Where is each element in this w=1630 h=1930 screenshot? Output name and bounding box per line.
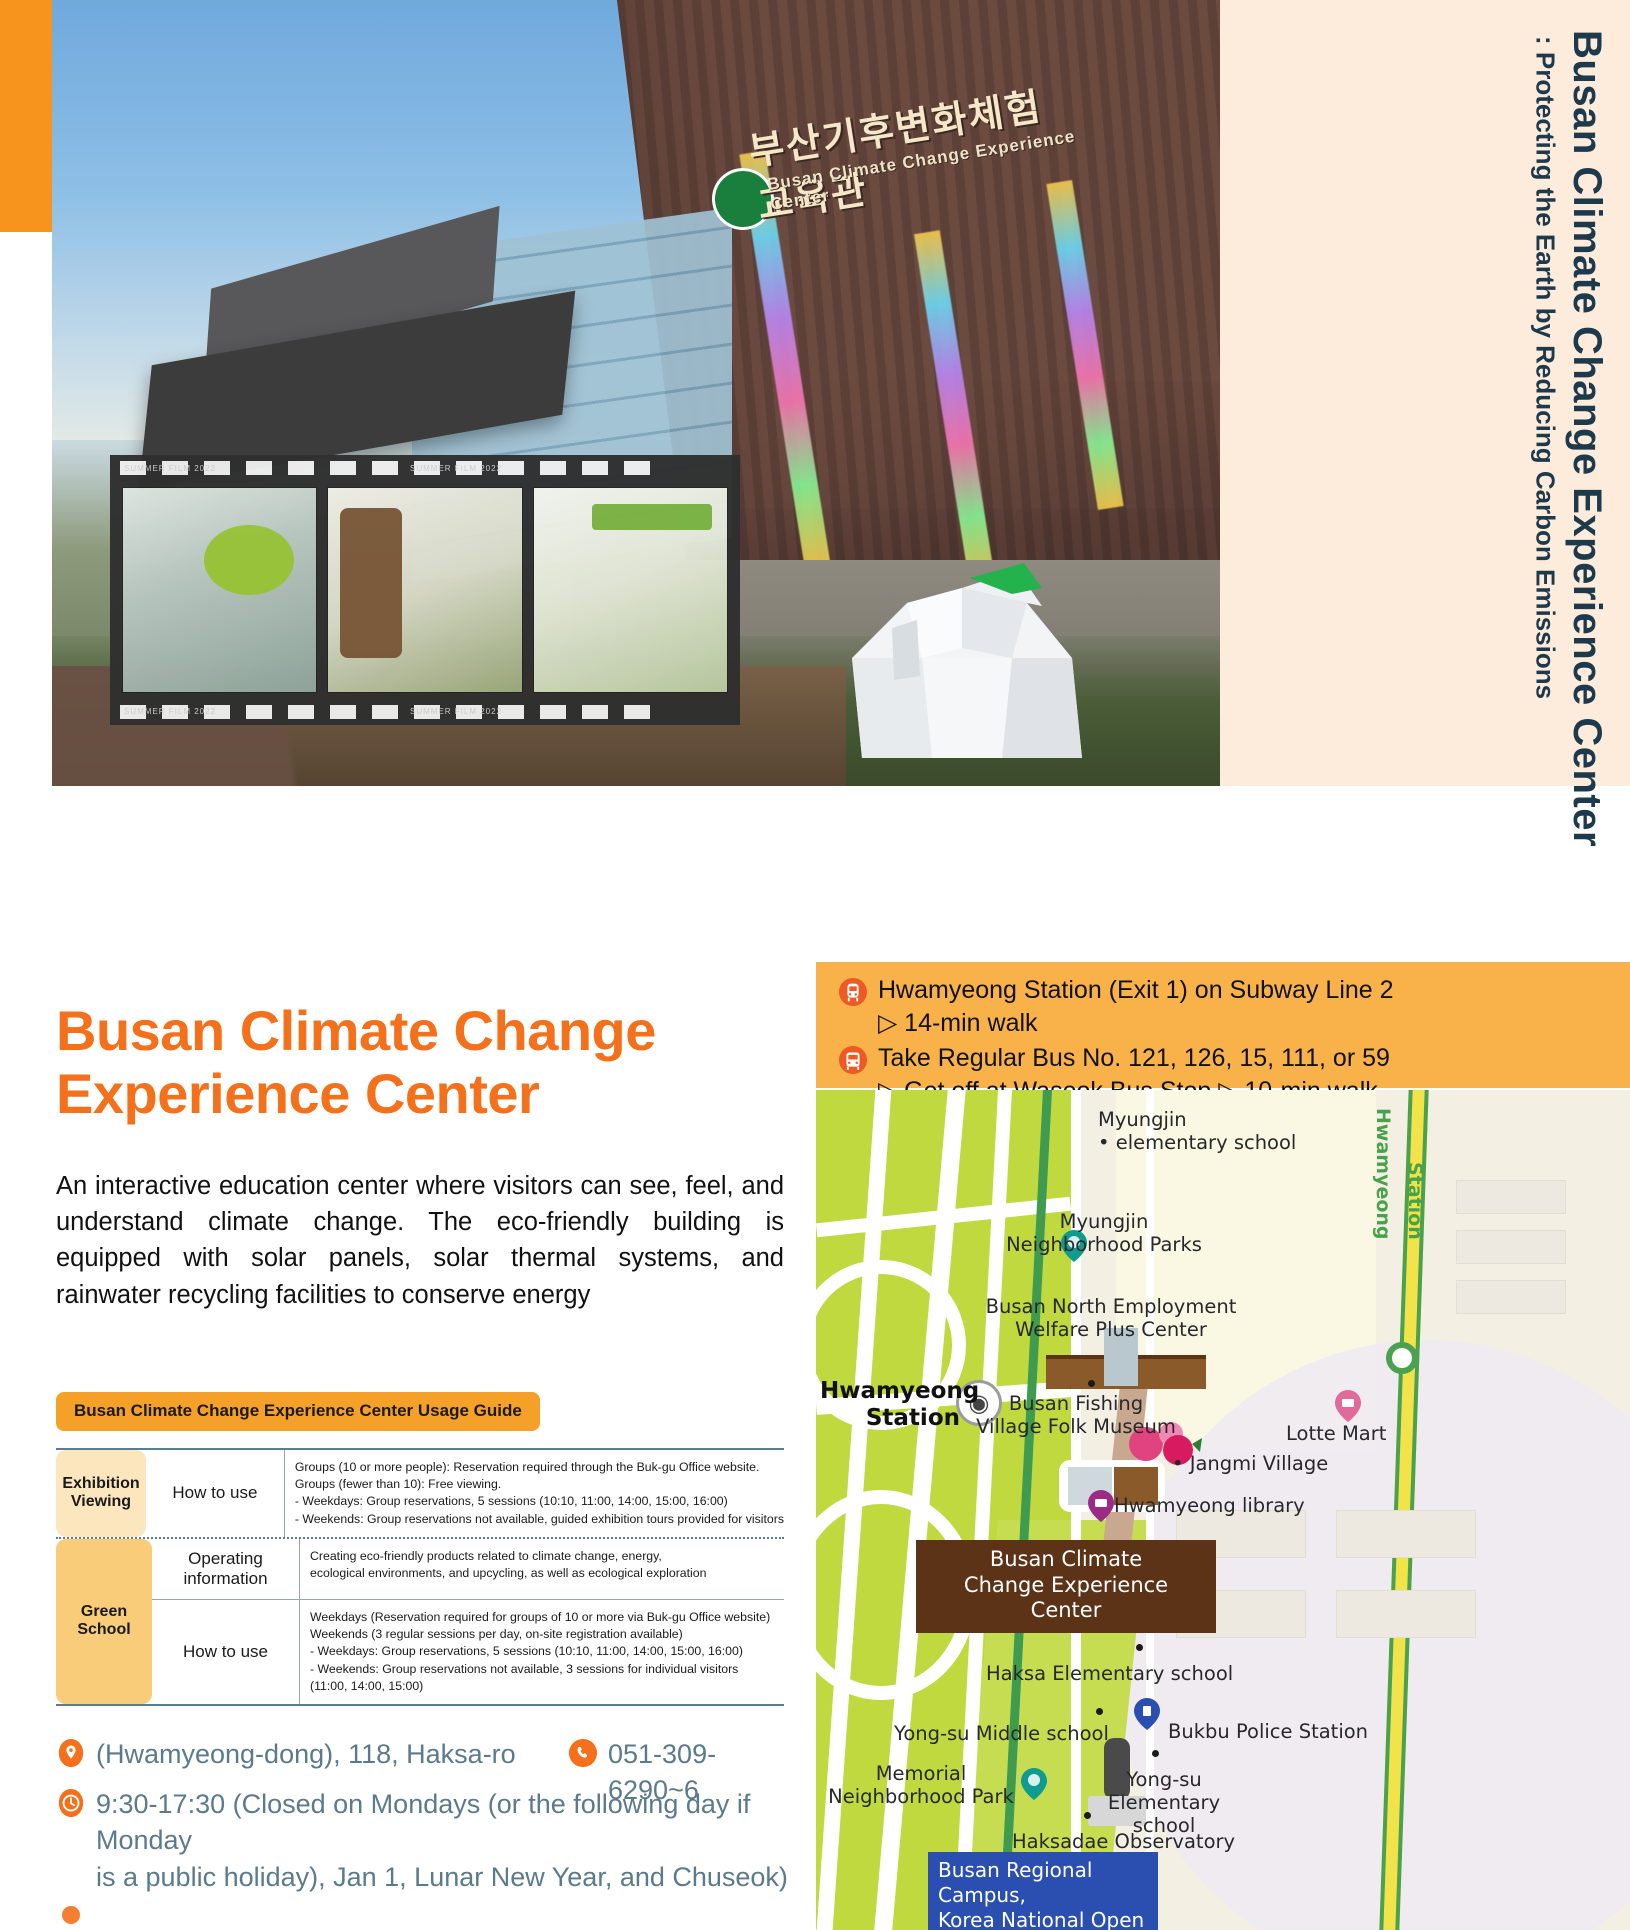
- map-label-line: Lotte Mart: [1286, 1422, 1386, 1445]
- table-cell-content: Creating eco-friendly products related t…: [300, 1539, 784, 1599]
- contact-hours-line2: is a public holiday), Jan 1, Lunar New Y…: [96, 1859, 796, 1895]
- map-label-hwamyeong-library: Hwamyeong library: [1114, 1494, 1305, 1517]
- table-subrow: Operating information Creating eco-frien…: [152, 1539, 784, 1600]
- film-label-bl: SUMMER FILM 2022: [124, 707, 216, 716]
- location-pin-icon: [56, 1738, 86, 1768]
- map-block: [1456, 1180, 1566, 1214]
- table-subrow: How to use Weekdays (Reservation require…: [152, 1600, 784, 1704]
- map-marker-center[interactable]: Busan Climate Change Experience Center: [916, 1540, 1216, 1633]
- vertical-subtitle: : Protecting the Earth by Reducing Carbo…: [1531, 30, 1560, 699]
- table-row: Exhibition Viewing How to use Groups (10…: [56, 1450, 784, 1539]
- table-cell-category: Exhibition Viewing: [56, 1450, 146, 1537]
- map-label-line: Busan North Employment: [966, 1295, 1256, 1318]
- police-station-pin-icon: [1134, 1698, 1160, 1730]
- film-photo-tree-exhibit: [327, 487, 522, 693]
- map-dot-haksadae: [1084, 1812, 1091, 1819]
- poster-page: 부산기후변화체험교육관 Busan Climate Change Experie…: [0, 0, 1630, 1930]
- library-pin-icon: [1088, 1490, 1114, 1522]
- film-photo-row: 그린마켓: [122, 487, 728, 693]
- phone-icon: [568, 1738, 598, 1768]
- table-cell-category: Green School: [56, 1539, 152, 1704]
- map-marker-center-line2: Change Experience Center: [930, 1573, 1202, 1624]
- green-market-label: 그린마켓: [623, 504, 663, 520]
- usage-guide-table: Exhibition Viewing How to use Groups (10…: [56, 1448, 784, 1706]
- table-cell-subject: How to use: [152, 1600, 300, 1704]
- left-accent-tab: [0, 0, 52, 232]
- map-label-jangmi-village: • Jangmi Village: [1172, 1452, 1328, 1475]
- clock-icon: [56, 1788, 86, 1818]
- table-line: Creating eco-friendly products related t…: [310, 1548, 784, 1565]
- film-strip-collage: SUMMER FILM 2022 SUMMER FILM 2022 SUMMER…: [110, 455, 740, 725]
- map-label-lotte-mart: Lotte Mart: [1286, 1422, 1386, 1445]
- subway-icon: [838, 977, 868, 1007]
- table-line: Groups (10 or more people): Reservation …: [295, 1459, 784, 1476]
- table-line: - Weekends: Group reservations not avail…: [295, 1511, 784, 1528]
- table-cell-subject: Operating information: [152, 1539, 300, 1599]
- map-label-yongsu-middle: Yong-su Middle school: [894, 1722, 1109, 1745]
- contact-address: (Hwamyeong-dong), 118, Haksa-ro: [96, 1736, 516, 1772]
- table-row: Green School Operating information Creat…: [56, 1539, 784, 1704]
- map-label-line: • elementary school: [1098, 1131, 1368, 1154]
- film-photo-green-market: 그린마켓: [533, 487, 728, 693]
- map-label-line: Busan Fishing: [926, 1392, 1226, 1415]
- map-label-line: Bukbu Police Station: [1168, 1720, 1368, 1743]
- vertical-title-band: Busan Climate Change Experience Center :…: [1220, 0, 1630, 786]
- highway-station-node-icon: [1386, 1342, 1418, 1374]
- film-label-left: SUMMER FILM 2022: [124, 464, 216, 473]
- map-block: [1456, 1230, 1566, 1264]
- map-label-line: Haksadae Observatory: [1012, 1830, 1235, 1853]
- lotte-mart-pin-icon: [1335, 1390, 1361, 1422]
- footer-bullet-icon: [62, 1906, 80, 1924]
- highway-label-hwamyeong: Hwamyeong: [1372, 1108, 1394, 1240]
- table-category-label: Green School: [56, 1603, 152, 1640]
- map-block: [1336, 1590, 1476, 1638]
- table-line: ecological environments, and upcycling, …: [310, 1565, 784, 1582]
- map-marker-knou[interactable]: Busan Regional Campus, Korea National Op…: [928, 1852, 1158, 1930]
- contact-phone: 051-309-6290~6: [608, 1736, 796, 1808]
- map-label-line: Neighborhood Parks: [974, 1233, 1234, 1256]
- map-label-line: Myungjin: [1098, 1108, 1368, 1131]
- map-dot-welfare: [1088, 1380, 1095, 1387]
- page-title: Busan Climate Change Experience Center: [56, 1000, 796, 1125]
- map-marker-center-line1: Busan Climate: [930, 1547, 1202, 1573]
- map-marker-knou-line1: Busan Regional Campus,: [938, 1858, 1148, 1908]
- usage-guide-badge: Busan Climate Change Experience Center U…: [56, 1392, 540, 1431]
- map-label-line: Memorial: [816, 1762, 1026, 1785]
- table-line: - Weekends: Group reservations not avail…: [310, 1661, 784, 1678]
- page-description: An interactive education center where vi…: [56, 1168, 784, 1313]
- transport-subway-sub: ▷ 14-min walk: [838, 1007, 1630, 1040]
- map-label-haksadae-observatory: Haksadae Observatory: [1012, 1830, 1235, 1853]
- map-label-welfare-center: Busan North Employment Welfare Plus Cent…: [966, 1295, 1256, 1341]
- map-label-line: Welfare Plus Center: [966, 1318, 1256, 1341]
- map-dot-yongsu-mid: [1096, 1708, 1103, 1715]
- location-map[interactable]: ◉: [816, 1090, 1630, 1930]
- transport-bus-text: Take Regular Bus No. 121, 126, 15, 111, …: [878, 1042, 1390, 1074]
- contact-block: (Hwamyeong-dong), 118, Haksa-ro 051-309-…: [56, 1736, 796, 1905]
- table-line: - Weekdays: Group reservations, 5 sessio…: [310, 1643, 784, 1660]
- table-cell-subject: How to use: [146, 1450, 285, 1537]
- polar-bear-sculpture-icon: [812, 508, 1122, 758]
- bus-icon: [838, 1045, 868, 1075]
- film-label-mid: SUMMER FILM 2022: [410, 464, 502, 473]
- table-cell-content: Weekdays (Reservation required for group…: [300, 1600, 784, 1704]
- map-label-line: Hwamyeong library: [1114, 1494, 1305, 1517]
- vertical-title: Busan Climate Change Experience Center: [1566, 30, 1608, 847]
- table-line: - Weekdays: Group reservations, 5 sessio…: [295, 1493, 784, 1510]
- map-label-line: Neighborhood Park: [816, 1785, 1026, 1808]
- map-label-haksa-elementary: Haksa Elementary school: [986, 1662, 1233, 1685]
- table-cell-content: Groups (10 or more people): Reservation …: [285, 1450, 784, 1537]
- table-line: (11:00, 14:00, 15:00): [310, 1678, 784, 1695]
- map-label-line: Haksa Elementary school: [986, 1662, 1233, 1685]
- contact-row-address: (Hwamyeong-dong), 118, Haksa-ro 051-309-…: [56, 1736, 796, 1772]
- map-block: [1336, 1510, 1476, 1558]
- transport-subway-text: Hwamyeong Station (Exit 1) on Subway Lin…: [878, 974, 1394, 1006]
- transport-item-bus: Take Regular Bus No. 121, 126, 15, 111, …: [838, 1042, 1630, 1075]
- map-label-line: Yong-su Middle school: [894, 1722, 1109, 1745]
- map-label-line: Myungjin: [974, 1210, 1234, 1233]
- map-label-myungjin-parks: Myungjin Neighborhood Parks: [974, 1210, 1234, 1256]
- table-line: Groups (fewer than 10): Free viewing.: [295, 1476, 784, 1493]
- map-dot-haksa: [1136, 1644, 1143, 1651]
- film-label-bm: SUMMER FILM 2022: [410, 707, 502, 716]
- highway-label-station: Station: [1404, 1162, 1426, 1240]
- table-line: Weekdays (Reservation required for group…: [310, 1609, 784, 1626]
- map-label-bukbu-police: Bukbu Police Station: [1168, 1720, 1368, 1743]
- film-photo-lobby: [122, 487, 317, 693]
- map-label-memorial-park: Memorial Neighborhood Park: [816, 1762, 1026, 1808]
- map-dot-yongsu-elem: [1152, 1750, 1159, 1757]
- map-marker-knou-line2: Korea National Open: [938, 1908, 1148, 1930]
- map-label-line: Village Folk Museum: [926, 1415, 1226, 1438]
- map-label-myungjin-elementary: Myungjin • elementary school: [1098, 1108, 1368, 1154]
- map-block: [1456, 1280, 1566, 1314]
- map-label-folk-museum: Busan Fishing Village Folk Museum: [926, 1392, 1226, 1438]
- map-label-line: • Jangmi Village: [1172, 1452, 1328, 1475]
- table-line: Weekends (3 regular sessions per day, on…: [310, 1626, 784, 1643]
- hero-photo: 부산기후변화체험교육관 Busan Climate Change Experie…: [52, 0, 1220, 786]
- contact-phone-group: 051-309-6290~6: [568, 1736, 796, 1808]
- transport-info-box: Hwamyeong Station (Exit 1) on Subway Lin…: [816, 962, 1630, 1088]
- map-label-line: Yong-su: [1074, 1768, 1254, 1791]
- transport-item-subway: Hwamyeong Station (Exit 1) on Subway Lin…: [838, 974, 1630, 1007]
- map-label-yongsu-elementary: Yong-su Elementary school: [1074, 1768, 1254, 1837]
